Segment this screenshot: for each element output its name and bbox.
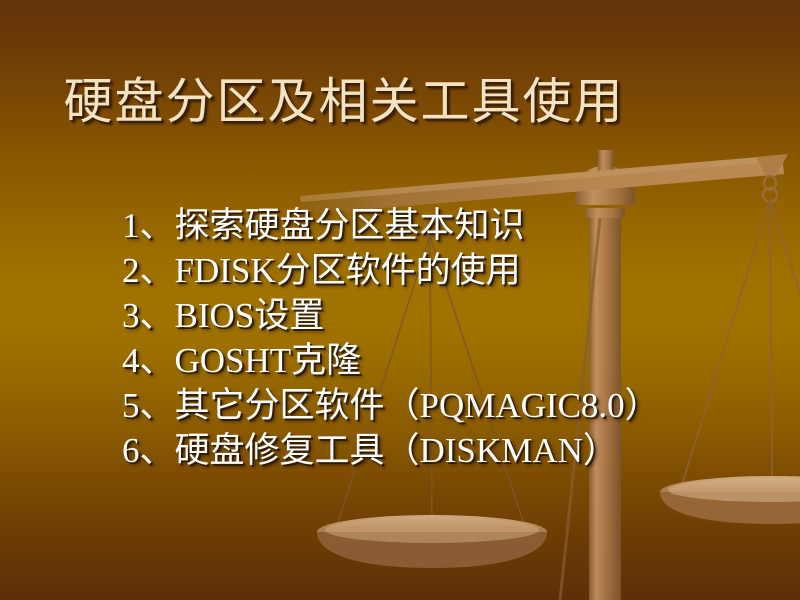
presentation-slide: 硬盘分区及相关工具使用 1、探索硬盘分区基本知识 2、FDISK分区软件的使用 … [0, 0, 800, 600]
list-item: 3、BIOS设置 [122, 293, 782, 338]
scale-fulcrum [575, 150, 635, 205]
scale-left-pan [317, 515, 547, 568]
list-item: 5、其它分区软件（PQMAGIC8.0） [122, 383, 782, 428]
slide-title: 硬盘分区及相关工具使用 [0, 72, 800, 132]
list-item: 4、GOSHT克隆 [122, 338, 782, 383]
scale-beam-right-end [756, 154, 788, 176]
scale-right-pan [660, 476, 800, 524]
list-item: 1、探索硬盘分区基本知识 [122, 203, 782, 248]
scale-right-hook [763, 176, 777, 202]
slide-bullet-list: 1、探索硬盘分区基本知识 2、FDISK分区软件的使用 3、BIOS设置 4、G… [122, 203, 782, 473]
list-item: 2、FDISK分区软件的使用 [122, 248, 782, 293]
list-item: 6、硬盘修复工具（DISKMAN） [122, 428, 782, 473]
